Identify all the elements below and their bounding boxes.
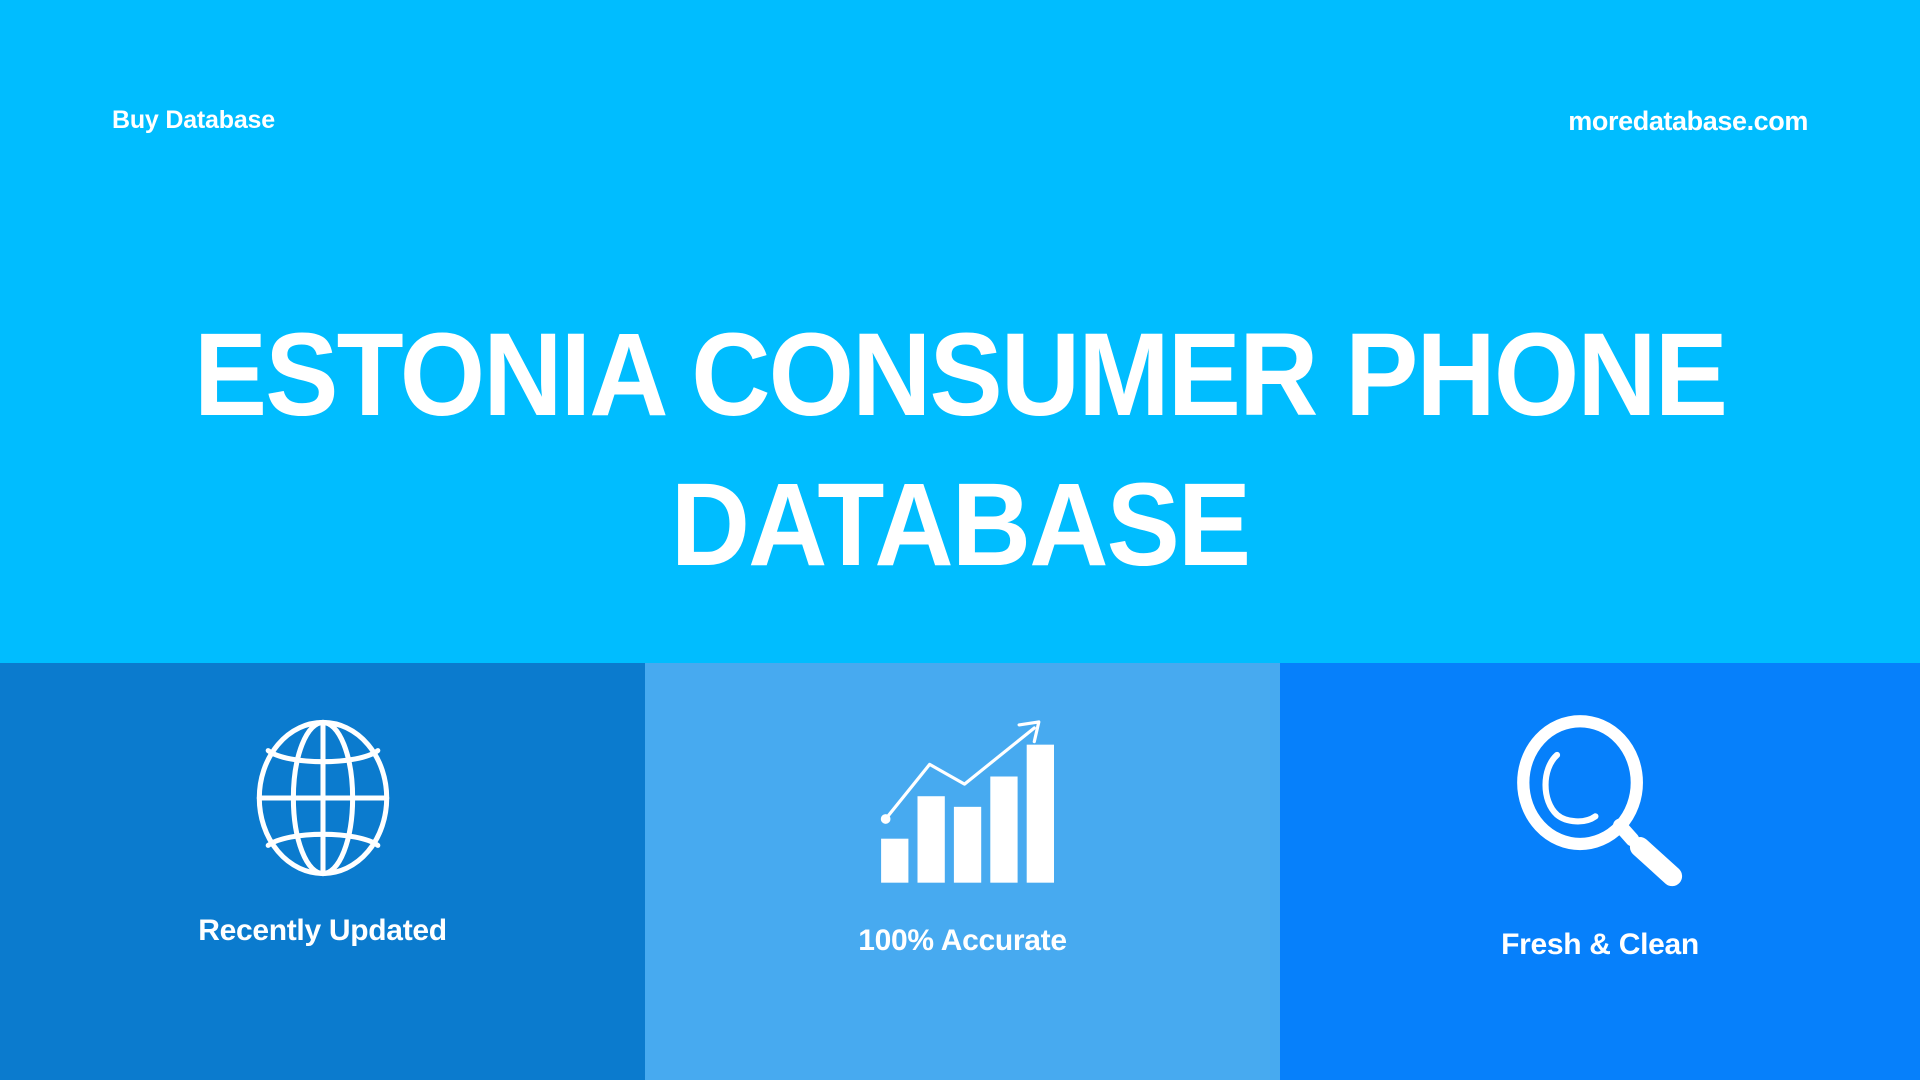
growth-bar-chart-icon <box>872 711 1054 886</box>
globe-icon <box>248 718 398 878</box>
feature-card-recently-updated[interactable]: Recently Updated <box>0 663 645 1080</box>
magnifier-inner-arc <box>1546 755 1596 821</box>
page-title-line-1: ESTONIA CONSUMER PHONE <box>67 300 1853 450</box>
magnifier-handle <box>1640 847 1672 876</box>
poster-canvas: Buy Database moredatabase.com ESTONIA CO… <box>0 0 1920 1080</box>
header-bar: Buy Database moredatabase.com <box>0 0 1920 220</box>
feature-card-fresh-clean[interactable]: Fresh & Clean <box>1280 663 1920 1080</box>
chart-bars <box>881 745 1054 883</box>
page-title-line-2: DATABASE <box>67 450 1853 600</box>
magnifier-neck <box>1620 826 1632 840</box>
feature-label-fresh-clean: Fresh & Clean <box>1501 930 1699 960</box>
feature-label-recently-updated: Recently Updated <box>198 916 447 946</box>
feature-strip: Recently Updated 100% Accurate <box>0 663 1920 1080</box>
magnifier-icon <box>1511 715 1689 887</box>
feature-card-accuracy[interactable]: 100% Accurate <box>645 663 1280 1080</box>
page-title: ESTONIA CONSUMER PHONE DATABASE <box>67 300 1853 600</box>
brand-label[interactable]: Buy Database <box>112 108 275 133</box>
feature-label-accuracy: 100% Accurate <box>858 926 1066 956</box>
site-domain-label[interactable]: moredatabase.com <box>1568 108 1808 135</box>
hero-banner: Buy Database moredatabase.com ESTONIA CO… <box>0 0 1920 663</box>
trend-start-dot <box>880 814 890 824</box>
